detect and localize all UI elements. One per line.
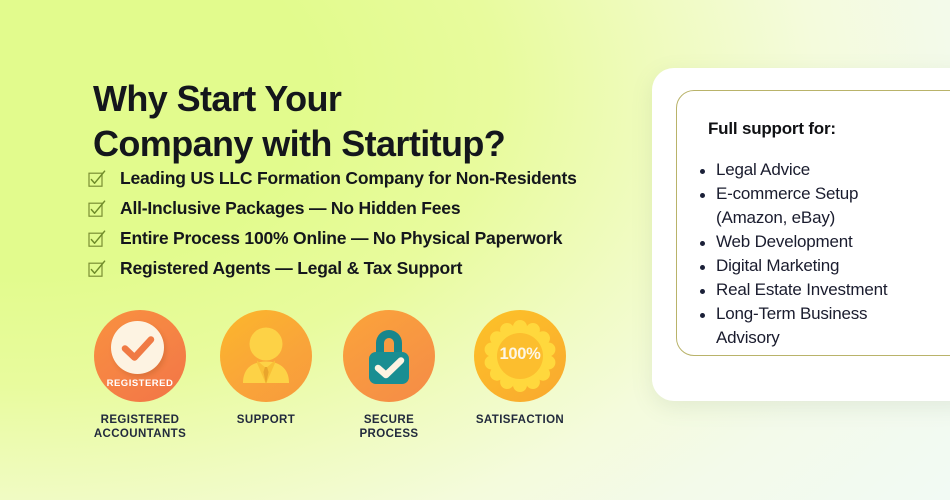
- list-item: Entire Process 100% Online — No Physical…: [88, 227, 668, 251]
- checkbox-checked-icon: [88, 200, 106, 218]
- list-item: Leading US LLC Formation Company for Non…: [88, 167, 668, 191]
- badge-label-line-1: REGISTERED: [101, 414, 180, 426]
- badge-label-line-2: PROCESS: [359, 428, 418, 440]
- badge-label: SECURE PROCESS: [319, 413, 459, 441]
- promo-banner: Why Start Your Company with Startitup? L…: [0, 0, 950, 500]
- list-item: Legal Advice: [700, 158, 950, 182]
- badge-registered-accountants: REGISTERED REGISTERED ACCOUNTANTS: [70, 310, 210, 441]
- list-item-label: Long-Term Business: [716, 302, 867, 326]
- list-item-label: (Amazon, eBay): [716, 206, 835, 230]
- badge-inner-text: 100%: [474, 345, 566, 364]
- list-item-label: E-commerce Setup: [716, 182, 858, 206]
- badge-secure-process: SECURE PROCESS: [319, 310, 459, 441]
- list-item-label: Real Estate Investment: [716, 278, 887, 302]
- list-item-label: Leading US LLC Formation Company for Non…: [120, 167, 577, 189]
- satisfaction-rosette-icon: 100%: [474, 310, 566, 402]
- list-item-label: Legal Advice: [716, 158, 810, 182]
- badge-label: REGISTERED ACCOUNTANTS: [70, 413, 210, 441]
- list-item: Digital Marketing: [700, 254, 950, 278]
- checkbox-checked-icon: [88, 170, 106, 188]
- support-person-icon: [220, 310, 312, 402]
- badge-label-line-1: SUPPORT: [237, 414, 295, 426]
- list-item: Real Estate Investment: [700, 278, 950, 302]
- bullet-dot-icon: [700, 289, 705, 294]
- feature-checklist: Leading US LLC Formation Company for Non…: [88, 167, 668, 287]
- list-item-label: Entire Process 100% Online — No Physical…: [120, 227, 562, 249]
- checkbox-checked-icon: [88, 260, 106, 278]
- badge-label: SATISFACTION: [450, 413, 590, 427]
- checkbox-checked-icon: [88, 230, 106, 248]
- bullet-dot-icon: [700, 193, 705, 198]
- bullet-dot-placeholder: [700, 337, 705, 342]
- secure-padlock-check-icon: [343, 310, 435, 402]
- list-item-label: Web Development: [716, 230, 853, 254]
- padlock-glyph-icon: [343, 310, 435, 402]
- badge-label-line-1: SATISFACTION: [476, 414, 564, 426]
- bullet-dot-placeholder: [700, 217, 705, 222]
- trust-badge-row: REGISTERED REGISTERED ACCOUNTANTS: [60, 310, 600, 460]
- badge-inner-text: REGISTERED: [94, 378, 186, 389]
- list-item: Long-Term Business: [700, 302, 950, 326]
- list-item: All-Inclusive Packages — No Hidden Fees: [88, 197, 668, 221]
- registered-check-seal-icon: REGISTERED: [94, 310, 186, 402]
- bullet-dot-icon: [700, 265, 705, 270]
- list-item-label: All-Inclusive Packages — No Hidden Fees: [120, 197, 460, 219]
- list-item-label: Advisory: [716, 326, 780, 350]
- badge-satisfaction: 100% SATISFACTION: [450, 310, 590, 427]
- support-list: Legal Advice E-commerce Setup (Amazon, e…: [700, 158, 950, 350]
- badge-label: SUPPORT: [196, 413, 336, 427]
- list-item-continuation: (Amazon, eBay): [700, 206, 950, 230]
- bullet-dot-icon: [700, 169, 705, 174]
- list-item: E-commerce Setup: [700, 182, 950, 206]
- headline-line-2: Company with Startitup?: [93, 121, 653, 166]
- list-item-continuation: Advisory: [700, 326, 950, 350]
- list-item-label: Digital Marketing: [716, 254, 839, 278]
- person-glyph-icon: [220, 310, 312, 402]
- page-title: Why Start Your Company with Startitup?: [93, 76, 653, 166]
- list-item: Registered Agents — Legal & Tax Support: [88, 257, 668, 281]
- badge-label-line-2: ACCOUNTANTS: [94, 428, 186, 440]
- list-item: Web Development: [700, 230, 950, 254]
- list-item-label: Registered Agents — Legal & Tax Support: [120, 257, 462, 279]
- badge-label-line-1: SECURE: [364, 414, 414, 426]
- card-title: Full support for:: [708, 119, 836, 139]
- bullet-dot-icon: [700, 241, 705, 246]
- bullet-dot-icon: [700, 313, 705, 318]
- headline-line-1: Why Start Your: [93, 78, 341, 119]
- badge-support: SUPPORT: [196, 310, 336, 427]
